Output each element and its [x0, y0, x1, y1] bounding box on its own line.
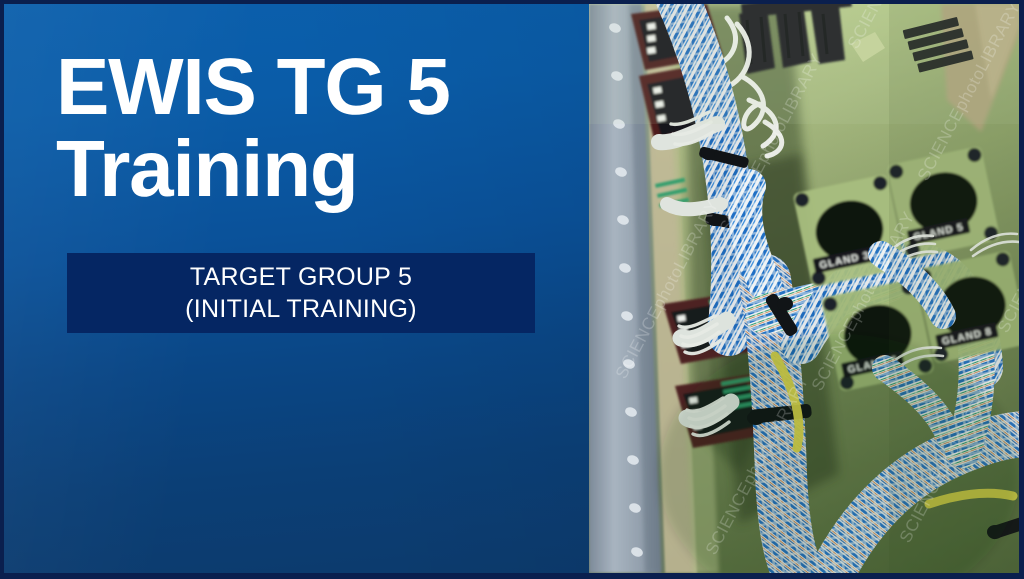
title-panel: EWIS TG 5 Training TARGET GROUP 5 (INITI… [0, 0, 589, 579]
title-line-1: EWIS TG 5 [56, 46, 556, 128]
subtitle-line-2: (INITIAL TRAINING) [185, 293, 417, 325]
title-line-2: Training [56, 128, 556, 210]
page-title: EWIS TG 5 Training [56, 46, 556, 209]
wiring-harness-illustration: GLAND 3 GLAND 5 GLAND 6 GLAND 8 [589, 4, 1019, 573]
ewis-wiring-photo: GLAND 3 GLAND 5 GLAND 6 GLAND 8 [589, 0, 1024, 579]
subtitle-box: TARGET GROUP 5 (INITIAL TRAINING) [67, 253, 535, 333]
slide: EWIS TG 5 Training TARGET GROUP 5 (INITI… [0, 0, 1024, 579]
subtitle-line-1: TARGET GROUP 5 [190, 261, 412, 293]
